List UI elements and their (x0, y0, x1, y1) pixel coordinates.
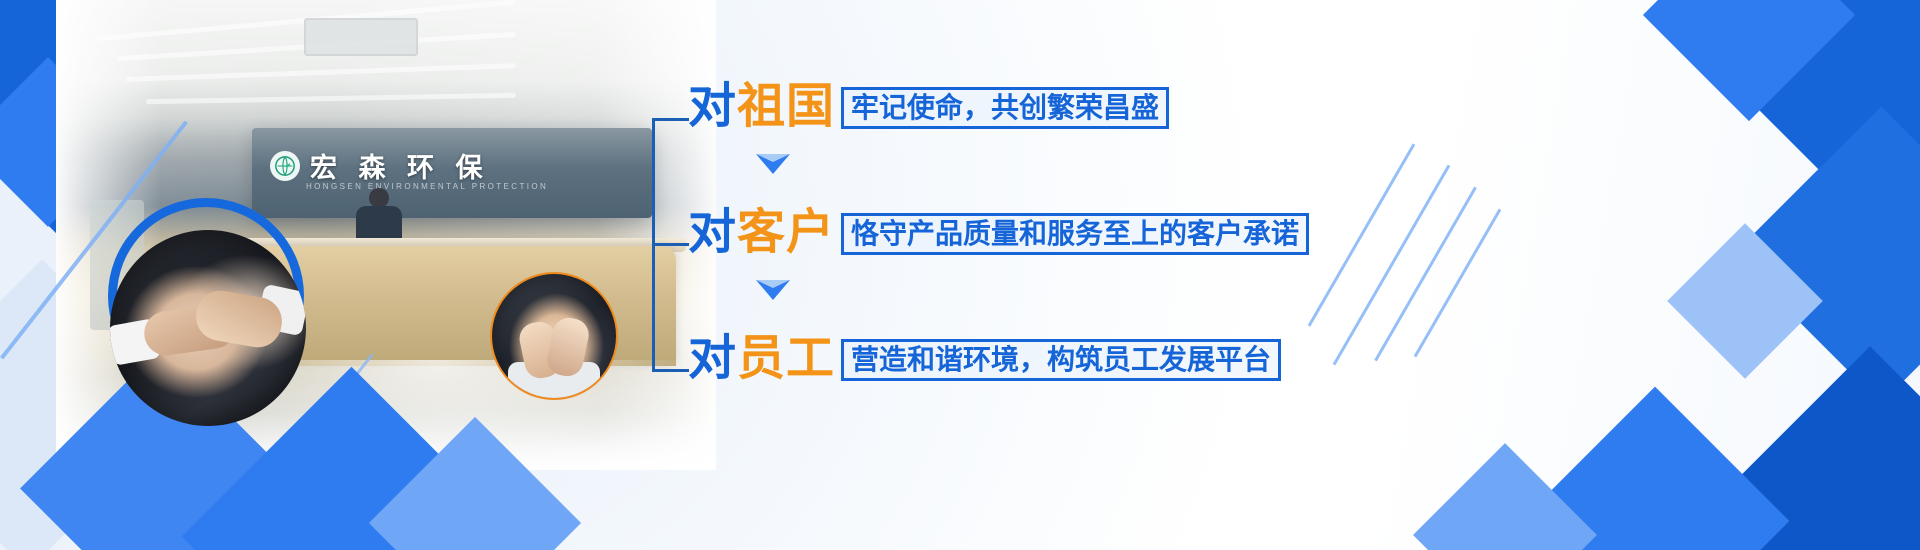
slogan-tag-box-employee: 营造和谐环境，构筑员工发展平台 (841, 339, 1281, 381)
company-name-sign-sub: HONGSEN ENVIRONMENTAL PROTECTION (306, 182, 548, 191)
handshake-photo (110, 230, 306, 426)
company-name-sign: 宏 森 环 保 (310, 146, 490, 185)
slogan-tag-box-customer: 恪守产品质量和服务至上的客户承诺 (841, 213, 1309, 255)
slogan-heading-employee: 对员工 (688, 334, 835, 382)
slogan-tag-text: 牢记使命，共创繁荣昌盛 (851, 93, 1159, 122)
slogan-heading-country: 对祖国 (688, 82, 835, 130)
company-logo: 宏 森 环 保 (270, 146, 490, 185)
triangle-down-icon-1 (756, 154, 790, 174)
applause-photo (492, 274, 616, 398)
slogan-block: 对祖国 牢记使命，共创繁荣昌盛 对客户 恪守产品质量和服务至上的客户承诺 对员工… (652, 82, 1352, 382)
slogan-tag-text: 营造和谐环境，构筑员工发展平台 (851, 345, 1271, 374)
promo-banner: 宏 森 环 保 HONGSEN ENVIRONMENTAL PROTECTION (0, 0, 1920, 550)
slogan-tag-text: 恪守产品质量和服务至上的客户承诺 (851, 219, 1299, 248)
slogan-prefix: 对 (688, 330, 737, 386)
slogan-prefix: 对 (688, 204, 737, 260)
slogan-target: 祖国 (737, 78, 835, 134)
slogan-row-country: 对祖国 牢记使命，共创繁荣昌盛 (688, 82, 1169, 130)
slogan-tag-box-country: 牢记使命，共创繁荣昌盛 (841, 87, 1169, 129)
slogan-heading-customer: 对客户 (688, 208, 835, 256)
triangle-down-icon-2 (756, 280, 790, 300)
bracket-connector (652, 118, 689, 372)
slogan-row-employee: 对员工 营造和谐环境，构筑员工发展平台 (688, 334, 1281, 382)
ceiling-vent (304, 18, 418, 56)
globe-leaf-icon (270, 151, 300, 181)
slogan-target: 员工 (737, 330, 835, 386)
slogan-row-customer: 对客户 恪守产品质量和服务至上的客户承诺 (688, 208, 1309, 256)
slogan-target: 客户 (737, 204, 835, 260)
decorative-lines-right (1350, 120, 1590, 440)
slogan-prefix: 对 (688, 78, 737, 134)
